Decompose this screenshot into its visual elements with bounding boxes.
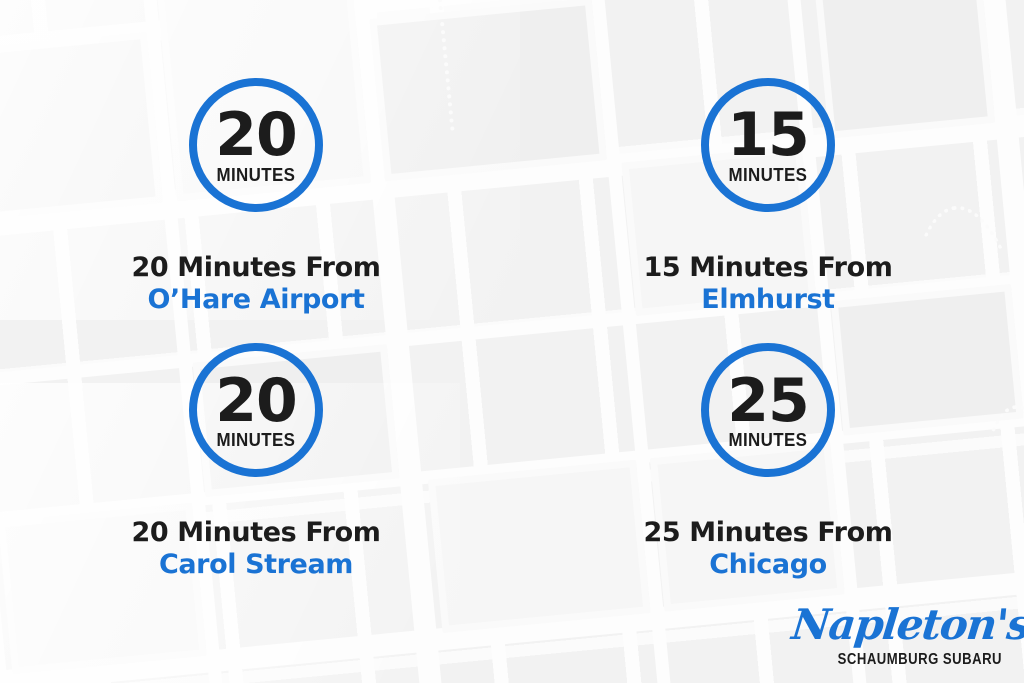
- stat-cell-ohare-airport: 20 MINUTES 20 Minutes From O’Hare Airpor…: [0, 78, 512, 315]
- caption-duration-line: 15 Minutes From: [644, 252, 893, 284]
- badge-number: 20: [215, 108, 297, 163]
- badge-unit-label: MINUTES: [729, 165, 808, 186]
- dealer-logo: Napleton's SCHAUMBURG SUBARU: [792, 604, 1002, 669]
- badge-unit-label: MINUTES: [217, 165, 296, 186]
- caption-duration-line: 20 Minutes From: [132, 252, 381, 284]
- badge-number: 20: [215, 374, 297, 429]
- stat-caption: 15 Minutes From Elmhurst: [644, 252, 893, 315]
- minutes-badge: 20 MINUTES: [189, 343, 323, 477]
- badge-unit-label: MINUTES: [217, 430, 296, 451]
- caption-duration-line: 25 Minutes From: [644, 517, 893, 549]
- badge-number: 15: [727, 108, 809, 163]
- caption-place-line: Chicago: [644, 549, 893, 581]
- badge-number: 25: [727, 374, 809, 429]
- logo-script-name: Napleton's: [790, 604, 1004, 646]
- caption-place-line: O’Hare Airport: [132, 284, 381, 316]
- stat-cell-chicago: 25 MINUTES 25 Minutes From Chicago: [512, 343, 1024, 580]
- caption-duration-line: 20 Minutes From: [132, 517, 381, 549]
- caption-place-line: Elmhurst: [644, 284, 893, 316]
- badge-unit-label: MINUTES: [729, 430, 808, 451]
- stats-grid: 20 MINUTES 20 Minutes From O’Hare Airpor…: [0, 78, 1024, 580]
- minutes-badge: 15 MINUTES: [701, 78, 835, 212]
- minutes-badge: 25 MINUTES: [701, 343, 835, 477]
- stat-cell-elmhurst: 15 MINUTES 15 Minutes From Elmhurst: [512, 78, 1024, 315]
- stat-caption: 25 Minutes From Chicago: [644, 517, 893, 580]
- logo-subtitle: SCHAUMBURG SUBARU: [830, 651, 1002, 669]
- minutes-badge: 20 MINUTES: [189, 78, 323, 212]
- caption-place-line: Carol Stream: [132, 549, 381, 581]
- stat-caption: 20 Minutes From Carol Stream: [132, 517, 381, 580]
- promo-graphic: 20 MINUTES 20 Minutes From O’Hare Airpor…: [0, 0, 1024, 683]
- stat-cell-carol-stream: 20 MINUTES 20 Minutes From Carol Stream: [0, 343, 512, 580]
- stat-caption: 20 Minutes From O’Hare Airport: [132, 252, 381, 315]
